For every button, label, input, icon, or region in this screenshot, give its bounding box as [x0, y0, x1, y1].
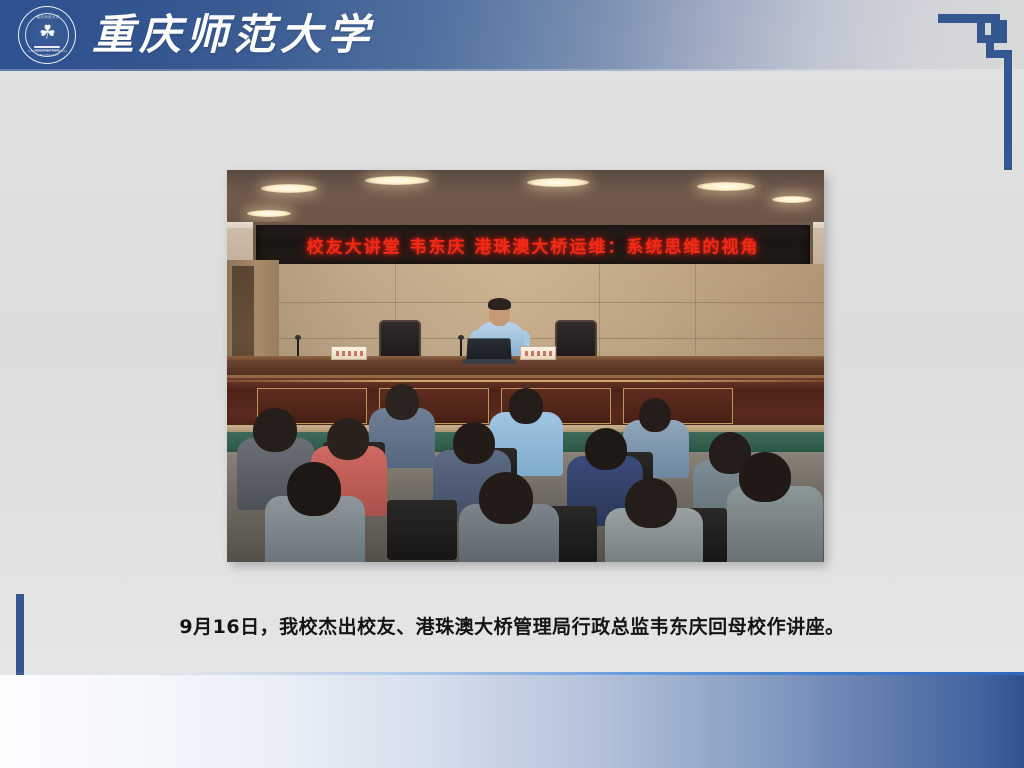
presidium-desk-top — [227, 360, 824, 376]
name-placard-right — [520, 346, 556, 360]
seal-bottom-text: CHONGQING NORMAL UNIVERSITY — [19, 49, 77, 57]
led-banner: 校友大讲堂 韦东庆 港珠澳大桥运维：系统思维的视角 — [253, 222, 813, 268]
audience-head-f4 — [739, 452, 791, 502]
speaker-laptop — [466, 338, 511, 360]
name-placard-left — [331, 346, 367, 360]
university-seal-icon: 重庆师范大学 ☘ CHONGQING NORMAL UNIVERSITY — [18, 6, 76, 64]
audience-head-m2 — [327, 418, 369, 460]
audience-chair-f1 — [387, 500, 457, 560]
audience-head-b3 — [639, 398, 671, 432]
lecture-photo: 校友大讲堂 韦东庆 港珠澳大桥运维：系统思维的视角 — [227, 170, 824, 562]
microphone-right — [460, 338, 462, 356]
photo-ceiling — [227, 170, 824, 228]
slide-root: 重庆师范大学 ☘ CHONGQING NORMAL UNIVERSITY 重庆师… — [0, 0, 1024, 768]
audience-head-b1 — [385, 384, 419, 420]
speaker-hair — [488, 298, 511, 310]
microphone-left — [297, 338, 299, 356]
led-banner-text: 校友大讲堂 韦东庆 港珠澳大桥运维：系统思维的视角 — [307, 233, 760, 258]
ceiling-light-5 — [247, 210, 291, 217]
ceiling-light-4 — [697, 182, 755, 191]
photo-caption: 9月16日，我校杰出校友、港珠澳大桥管理局行政总监韦东庆回母校作讲座。 — [0, 612, 1024, 639]
audience-head-m3 — [453, 422, 495, 464]
ceiling-light-3 — [527, 178, 589, 187]
audience-head-b2 — [509, 388, 543, 424]
university-wordmark: 重庆师范大学 — [92, 3, 374, 67]
seal-top-text: 重庆师范大学 — [19, 14, 77, 19]
audience-head-f1 — [287, 462, 341, 516]
wall-seam-1 — [227, 302, 824, 303]
audience-head-f2 — [479, 472, 533, 524]
audience-head-m1 — [253, 408, 297, 452]
corner-ornament-top-right-icon — [920, 6, 1020, 174]
seal-book-base — [34, 46, 60, 48]
audience-head-f3 — [625, 478, 677, 528]
ceiling-light-1 — [261, 184, 317, 193]
ceiling-light-6 — [772, 196, 812, 203]
lecture-photo-frame: 校友大讲堂 韦东庆 港珠澳大桥运维：系统思维的视角 — [227, 170, 824, 562]
seal-emblem-glyph: ☘ — [39, 23, 55, 42]
audience-head-m4 — [585, 428, 627, 470]
bottom-band — [0, 675, 1024, 768]
presidium-gold-line-top — [227, 380, 824, 382]
header-band: 重庆师范大学 ☘ CHONGQING NORMAL UNIVERSITY 重庆师… — [0, 0, 1024, 71]
ceiling-light-2 — [365, 176, 429, 185]
